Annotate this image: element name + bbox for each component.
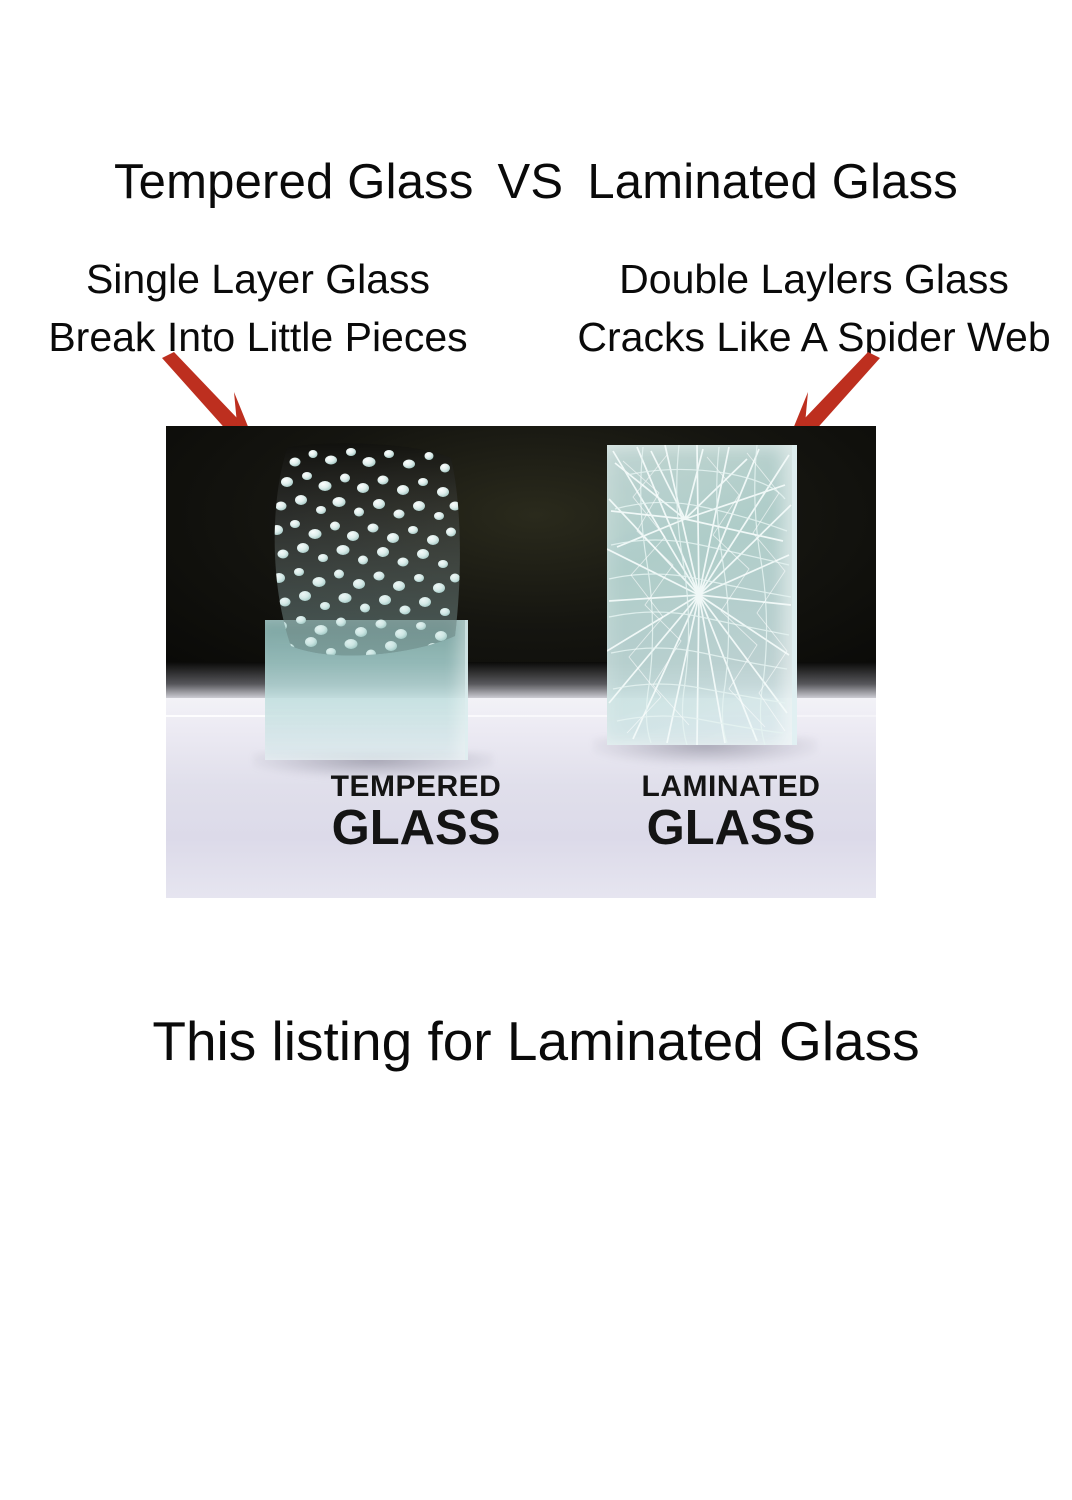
tempered-glass-caption: TEMPERED GLASS [236,771,596,853]
tempered-glass-panel [265,440,465,760]
laminated-panel-slab [607,445,797,745]
left-column-description: Single Layer Glass Break Into Little Pie… [8,250,508,366]
listing-note: This listing for Laminated Glass [0,1005,1072,1077]
right-desc-line1: Double Laylers Glass [556,250,1072,308]
spider-web-crack-pattern [607,445,792,745]
tempered-caption-line2: GLASS [236,803,596,853]
right-column-description: Double Laylers Glass Cracks Like A Spide… [556,250,1072,366]
comparison-infographic: Tempered GlassVSLaminated Glass Single L… [0,0,1072,1500]
laminated-caption-line1: LAMINATED [551,771,876,803]
laminated-glass-caption: LAMINATED GLASS [551,771,876,853]
laminated-caption-line2: GLASS [551,803,876,853]
laminated-glass-panel [607,445,792,763]
title-right-product: Laminated Glass [587,155,958,209]
title-vs: VS [498,155,564,209]
title-left-product: Tempered Glass [114,155,474,209]
left-desc-line1: Single Layer Glass [8,250,508,308]
tempered-caption-line1: TEMPERED [236,771,596,803]
page-title: Tempered GlassVSLaminated Glass [0,150,1072,214]
glass-comparison-photo: TEMPERED GLASS LAMINATED GLASS [166,426,876,898]
tempered-fragments-cluster [265,440,465,690]
